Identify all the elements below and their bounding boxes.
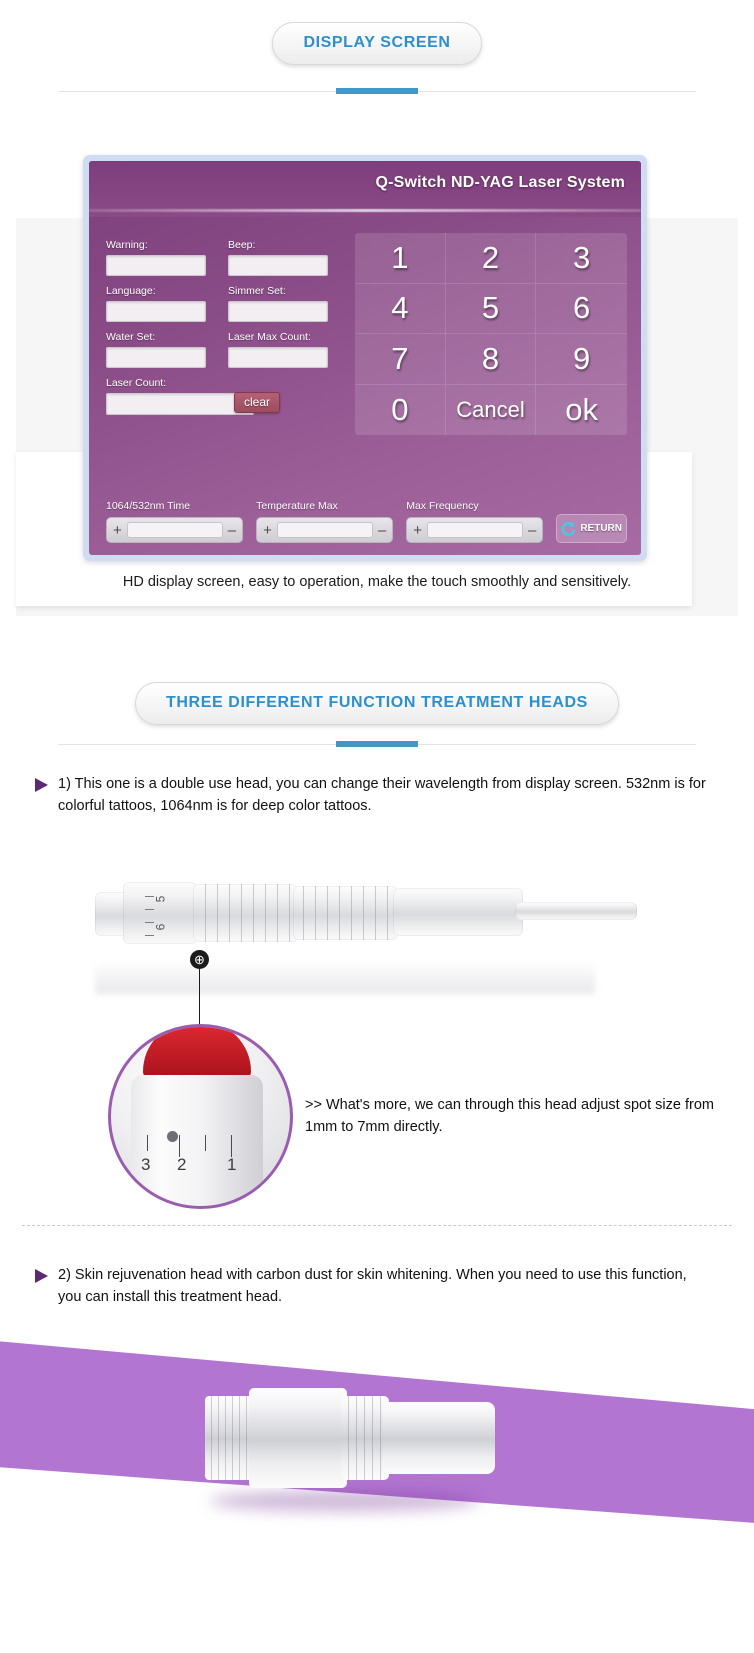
stepper-label-time: 1064/532nm Time: [106, 500, 243, 512]
stepper-temperature: Temperature Max + –: [256, 500, 393, 543]
laser-count-row: clear: [106, 393, 254, 415]
field-beep: Beep:: [228, 239, 328, 276]
form-row: Warning: Beep:: [106, 239, 356, 276]
nozzle-shadow: [210, 1490, 480, 1512]
screw-icon: [167, 1131, 178, 1142]
handpiece-tip: [515, 902, 637, 920]
stepper-control-time: + –: [106, 517, 243, 543]
field-laser-count: Laser Count: clear: [106, 377, 356, 415]
stepper-time: 1064/532nm Time + –: [106, 500, 243, 543]
treatment-heads-badge: THREE DIFFERENT FUNCTION TREATMENT HEADS: [135, 682, 619, 725]
display-screen-card: Q-Switch ND-YAG Laser System Warning: Be…: [83, 155, 647, 561]
rejuvenation-head-banner: [0, 1322, 754, 1564]
return-label: RETURN: [580, 523, 622, 534]
field-input-laser-count[interactable]: [106, 393, 254, 415]
key-6[interactable]: 6: [536, 284, 627, 335]
handpiece-mid-section: [193, 884, 298, 942]
display-screen-caption: HD display screen, easy to operation, ma…: [0, 574, 754, 590]
settings-form: Warning: Beep: Language: Simmer Set:: [106, 239, 356, 415]
scale-number-1: 1: [227, 1155, 236, 1175]
dial-number-5: 5: [153, 896, 167, 903]
field-input-laser-max-count[interactable]: [228, 347, 328, 368]
nozzle-knurl-ribs: [341, 1396, 389, 1480]
field-input-beep[interactable]: [228, 255, 328, 276]
magnifier-callout-text: >> What's more, we can through this head…: [305, 1094, 714, 1139]
form-row: Water Set: Laser Max Count:: [106, 331, 356, 368]
section-rule-2: [58, 744, 696, 745]
field-label-water-set: Water Set:: [106, 331, 206, 343]
head-item-1-text: 1) This one is a double use head, you ca…: [58, 774, 714, 818]
stepper-minus-frequency[interactable]: –: [528, 523, 536, 538]
stepper-plus-frequency[interactable]: +: [413, 523, 422, 538]
key-2[interactable]: 2: [446, 233, 537, 284]
nozzle-knurl: [341, 1396, 389, 1480]
handpiece-mid-section-2: [293, 886, 398, 940]
key-8[interactable]: 8: [446, 334, 537, 385]
screen-body: Warning: Beep: Language: Simmer Set:: [89, 217, 641, 555]
display-screen-badge: DISPLAY SCREEN: [272, 22, 481, 65]
head-item-1: 1) This one is a double use head, you ca…: [35, 774, 714, 818]
stepper-minus-temperature[interactable]: –: [378, 523, 386, 538]
head-item-2: 2) Skin rejuvenation head with carbon du…: [35, 1265, 714, 1309]
scale-number-2: 2: [177, 1155, 186, 1175]
display-screen-badge-wrap: DISPLAY SCREEN: [0, 22, 754, 65]
treatment-heads-badge-wrap: THREE DIFFERENT FUNCTION TREATMENT HEADS: [0, 682, 754, 725]
key-0[interactable]: 0: [355, 385, 446, 436]
bullet-triangle-icon: [35, 778, 48, 792]
nozzle-cone: [383, 1402, 495, 1474]
stepper-control-temperature: + –: [256, 517, 393, 543]
stepper-value-time[interactable]: [127, 522, 223, 538]
callout-plus-marker-icon: ⊕: [190, 950, 209, 969]
return-arrow-icon: [561, 521, 576, 536]
rule-accent: [336, 741, 418, 747]
stepper-frequency: Max Frequency + –: [406, 500, 543, 543]
field-label-warning: Warning:: [106, 239, 206, 251]
nozzle-barrel: [249, 1388, 347, 1488]
stepper-value-frequency[interactable]: [427, 522, 523, 538]
magnified-head-body: [131, 1075, 263, 1209]
scale-number-3: 3: [141, 1155, 150, 1175]
field-simmer-set: Simmer Set:: [228, 285, 328, 322]
return-button[interactable]: RETURN: [556, 514, 627, 543]
stepper-label-temperature: Temperature Max: [256, 500, 393, 512]
magnified-head-view: 3 2 1: [108, 1024, 293, 1209]
form-row: Language: Simmer Set:: [106, 285, 356, 322]
field-warning: Warning:: [106, 239, 206, 276]
screen-title: Q-Switch ND-YAG Laser System: [375, 174, 625, 192]
field-input-simmer-set[interactable]: [228, 301, 328, 322]
handpiece-taper: [393, 888, 523, 936]
stepper-bar: 1064/532nm Time + – Temperature Max + –: [106, 500, 627, 543]
field-label-laser-count: Laser Count:: [106, 377, 356, 389]
field-label-simmer-set: Simmer Set:: [228, 285, 328, 297]
section-divider-dashed: [22, 1225, 732, 1226]
stepper-plus-time[interactable]: +: [113, 523, 122, 538]
key-4[interactable]: 4: [355, 284, 446, 335]
key-cancel[interactable]: Cancel: [446, 385, 537, 436]
screen-header: Q-Switch ND-YAG Laser System: [89, 161, 641, 217]
laser-screen-ui: Q-Switch ND-YAG Laser System Warning: Be…: [89, 161, 641, 555]
field-laser-max-count: Laser Max Count:: [228, 331, 328, 368]
key-ok[interactable]: ok: [536, 385, 627, 436]
stepper-plus-temperature[interactable]: +: [263, 523, 272, 538]
field-language: Language:: [106, 285, 206, 322]
section-rule-1: [58, 91, 696, 92]
rejuvenation-nozzle: [205, 1382, 505, 1492]
stepper-label-frequency: Max Frequency: [406, 500, 543, 512]
key-5[interactable]: 5: [446, 284, 537, 335]
field-label-laser-max-count: Laser Max Count:: [228, 331, 328, 343]
bullet-triangle-icon: [35, 1269, 48, 1283]
handpiece-ribs: [293, 886, 398, 940]
header-glow: [89, 209, 641, 212]
stepper-control-frequency: + –: [406, 517, 543, 543]
dial-number-6: 6: [153, 924, 167, 931]
numeric-keypad: 1 2 3 4 5 6 7 8 9 0 Cancel ok: [355, 233, 627, 435]
field-water-set: Water Set:: [106, 331, 206, 368]
handpiece-dial: 5 6: [123, 882, 197, 944]
stepper-value-temperature[interactable]: [277, 522, 373, 538]
field-label-language: Language:: [106, 285, 206, 297]
field-input-warning[interactable]: [106, 255, 206, 276]
key-9[interactable]: 9: [536, 334, 627, 385]
handpiece-body: 5 6: [95, 862, 640, 962]
field-input-water-set[interactable]: [106, 347, 206, 368]
handpiece-reflection: [95, 960, 595, 994]
callout-leader-line: [199, 969, 200, 1029]
rule-accent: [336, 88, 418, 94]
red-dome: [143, 1024, 251, 1079]
head-item-2-text: 2) Skin rejuvenation head with carbon du…: [58, 1265, 714, 1309]
clear-button[interactable]: clear: [234, 392, 280, 413]
handpiece-ribs: [193, 884, 298, 942]
key-3[interactable]: 3: [536, 233, 627, 284]
field-label-beep: Beep:: [228, 239, 328, 251]
handpiece-illustration: 5 6: [0, 840, 754, 1020]
stepper-minus-time[interactable]: –: [228, 523, 236, 538]
key-1[interactable]: 1: [355, 233, 446, 284]
field-input-language[interactable]: [106, 301, 206, 322]
key-7[interactable]: 7: [355, 334, 446, 385]
